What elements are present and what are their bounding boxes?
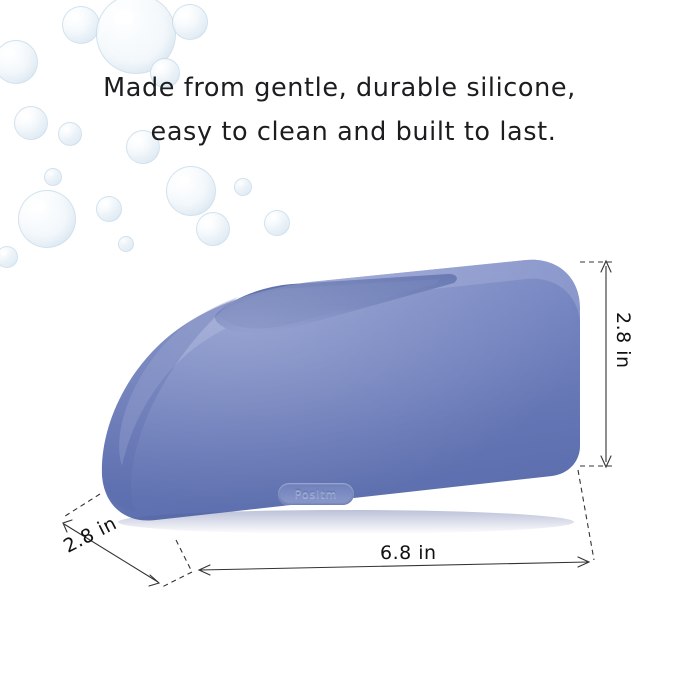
bubble xyxy=(44,168,62,186)
headline: Made from gentle, durable silicone, easy… xyxy=(0,66,679,154)
dimension-height-value: 2.8 in xyxy=(612,312,634,369)
dimension-width-label: 6.8 in xyxy=(380,542,437,564)
bubble xyxy=(62,6,100,44)
product-sheen xyxy=(102,260,580,521)
bubble xyxy=(18,190,76,248)
headline-line-1: Made from gentle, durable silicone, xyxy=(103,73,576,103)
width-leader-left xyxy=(176,540,192,572)
depth-arrow-bottom xyxy=(149,575,159,586)
product-shadow xyxy=(118,510,574,534)
height-arrow-bottom xyxy=(601,456,611,467)
bubble xyxy=(96,0,176,74)
bubble xyxy=(264,210,290,236)
depth-arrow-top xyxy=(63,520,72,532)
width-arrow-left xyxy=(199,565,210,575)
height-arrow-top xyxy=(601,261,611,272)
bubble xyxy=(196,212,230,246)
brand-logo: Positm xyxy=(278,483,354,505)
width-arrow-right xyxy=(578,557,589,567)
bubble xyxy=(172,4,208,40)
bubble xyxy=(0,246,18,268)
bubble xyxy=(234,178,252,196)
dimension-depth-label: 2.8 in xyxy=(60,512,120,557)
depth-leader-top xyxy=(62,494,100,518)
bubble xyxy=(166,166,216,216)
headline-line-2: easy to clean and built to last. xyxy=(0,110,679,154)
bubble xyxy=(96,196,122,222)
product-illustration: Positm xyxy=(96,250,586,540)
depth-leader-bottom xyxy=(160,572,192,588)
product-image-scene: Made from gentle, durable silicone, easy… xyxy=(0,0,679,679)
